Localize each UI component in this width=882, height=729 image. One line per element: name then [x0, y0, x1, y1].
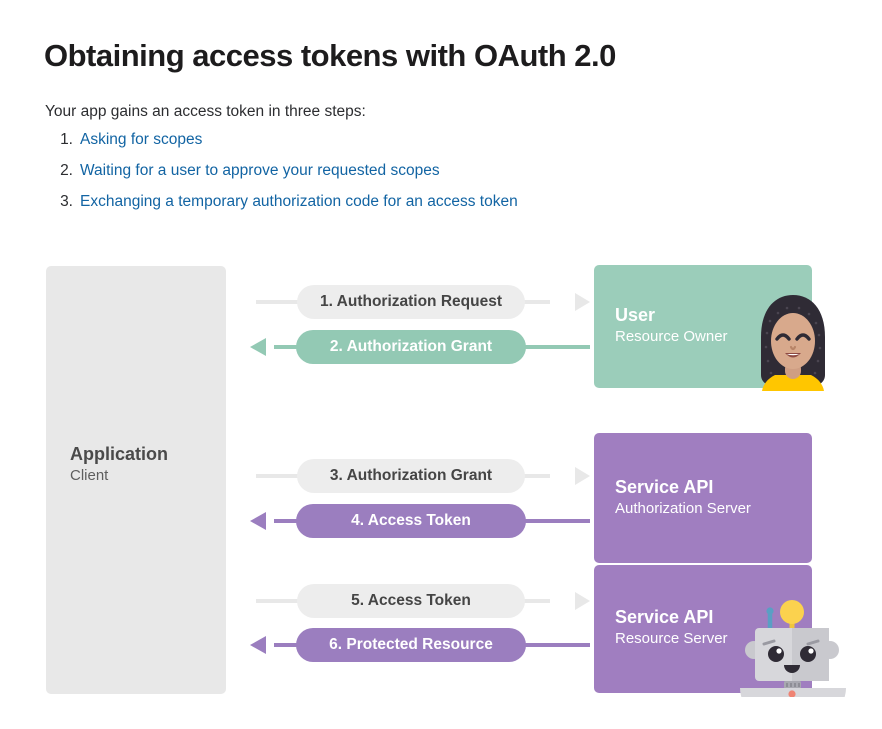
arrow-label-3: 3. Authorization Grant [297, 459, 525, 493]
arrow-head-right-icon [575, 293, 590, 311]
arrow-label-6: 6. Protected Resource [296, 628, 526, 662]
application-subtitle: Client [70, 466, 220, 486]
arrow-3-authorization-grant: 3. Authorization Grant [250, 459, 590, 493]
arrow-label-4: 4. Access Token [296, 504, 526, 538]
arrow-label-1: 1. Authorization Request [297, 285, 525, 319]
application-title: Application [70, 442, 220, 466]
resource-server-box: Service API Resource Server [594, 565, 812, 693]
arrow-head-right-icon [575, 467, 590, 485]
resource-server-labels: Service API Resource Server [615, 605, 728, 649]
arrow-6-protected-resource: 6. Protected Resource [250, 628, 590, 662]
arrow-head-left-icon [250, 636, 266, 654]
arrow-head-right-icon [575, 592, 590, 610]
authorization-server-box: Service API Authorization Server [594, 433, 812, 563]
resource-server-title: Service API [615, 605, 728, 629]
application-client-box: Application Client [46, 266, 226, 694]
arrow-2-authorization-grant: 2. Authorization Grant [250, 330, 590, 364]
authorization-server-subtitle: Authorization Server [615, 499, 751, 519]
authorization-server-labels: Service API Authorization Server [615, 475, 751, 519]
arrow-1-authorization-request: 1. Authorization Request [250, 285, 590, 319]
arrow-head-left-icon [250, 512, 266, 530]
arrow-label-5: 5. Access Token [297, 584, 525, 618]
arrow-4-access-token: 4. Access Token [250, 504, 590, 538]
user-subtitle: Resource Owner [615, 327, 728, 347]
user-labels: User Resource Owner [615, 303, 728, 347]
arrow-head-left-icon [250, 338, 266, 356]
arrow-5-access-token: 5. Access Token [250, 584, 590, 618]
oauth-flow-diagram: Application Client User Resource Owner [0, 0, 882, 729]
resource-server-subtitle: Resource Server [615, 629, 728, 649]
arrow-label-2: 2. Authorization Grant [296, 330, 526, 364]
application-labels: Application Client [70, 442, 220, 486]
user-resource-owner-box: User Resource Owner [594, 265, 812, 388]
user-title: User [615, 303, 728, 327]
authorization-server-title: Service API [615, 475, 751, 499]
